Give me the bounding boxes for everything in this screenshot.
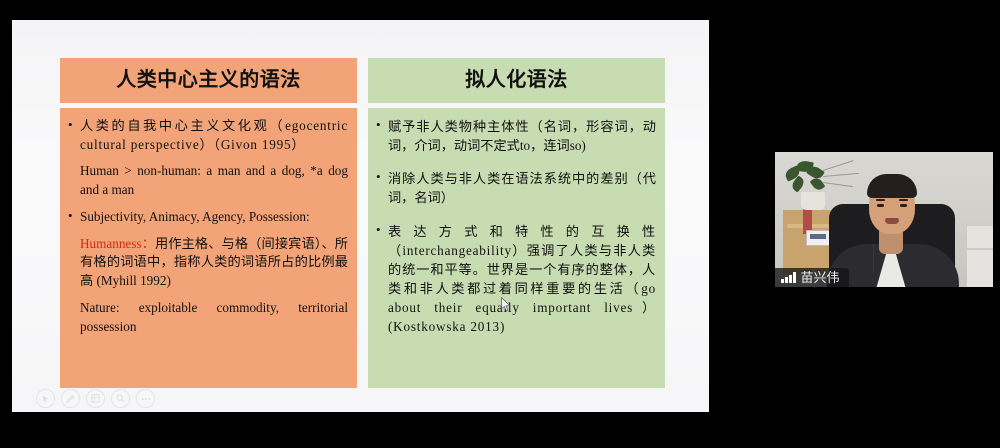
column-body-personified: 赋予非人类物种主体性（名词，形容词，动词，介词，动词不定式to，连词so) 消除… — [368, 108, 665, 388]
background-plant-pot — [801, 192, 825, 210]
meeting-screen-share-view: 人类中心主义的语法 人类的自我中心主义文化观（egocentric cultur… — [0, 0, 1000, 448]
plant-leaf — [810, 176, 826, 192]
person-hair — [867, 174, 917, 198]
person-eye — [900, 204, 907, 207]
column-personified-grammar: 拟人化语法 赋予非人类物种主体性（名词，形容词，动词，介词，动词不定式to，连词… — [368, 58, 665, 388]
bullet-subjectivity-animacy-agency-possession: Subjectivity, Animacy, Agency, Possessio… — [67, 208, 348, 227]
draw-tool-icon[interactable] — [61, 389, 80, 408]
slide-two-column-layout: 人类中心主义的语法 人类的自我中心主义文化观（egocentric cultur… — [60, 58, 665, 388]
participant-name-label: 苗兴伟 — [775, 268, 849, 287]
participant-video-tile[interactable]: 苗兴伟 — [775, 152, 993, 287]
video-scene: 苗兴伟 — [775, 152, 993, 287]
plant-branch — [823, 173, 859, 177]
column-anthropocentric-grammar: 人类中心主义的语法 人类的自我中心主义文化观（egocentric cultur… — [60, 58, 357, 388]
column-title-anthropocentric: 人类中心主义的语法 — [60, 58, 357, 103]
text-human-nonhuman-example: Human > non-human: a man and a dog, *a d… — [67, 162, 348, 199]
bullet-interchangeability: 表达方式和特性的互换性（interchangeability）强调了人类与非人类… — [375, 222, 656, 337]
person-mouth — [885, 218, 899, 224]
shared-slide: 人类中心主义的语法 人类的自我中心主义文化观（egocentric cultur… — [12, 20, 709, 412]
plant-branch — [823, 182, 853, 187]
bullet-subjectivity-nonhuman-species: 赋予非人类物种主体性（名词，形容词，动词，介词，动词不定式to，连词so) — [375, 117, 656, 155]
column-title-personified: 拟人化语法 — [368, 58, 665, 103]
background-shelf — [966, 226, 993, 287]
person-eyebrow — [876, 199, 885, 201]
humanness-label: Humanness： — [80, 236, 155, 251]
text-nature-exploitable-commodity: Nature: exploitable commodity, territori… — [67, 299, 348, 336]
column-body-anthropocentric: 人类的自我中心主义文化观（egocentric cultural perspec… — [60, 108, 357, 388]
bullet-eliminate-grammatical-difference: 消除人类与非人类在语法系统中的差别（代词，名词） — [375, 169, 656, 207]
shape-tool-icon[interactable] — [86, 389, 105, 408]
participant-name-text: 苗兴伟 — [801, 271, 840, 284]
person-eyebrow — [899, 199, 908, 201]
signal-bars-icon — [781, 272, 796, 283]
slide-canvas: 人类中心主义的语法 人类的自我中心主义文化观（egocentric cultur… — [12, 20, 709, 412]
plant-branch — [823, 160, 854, 171]
select-tool-icon[interactable] — [36, 389, 55, 408]
text-humanness-note: Humanness：用作主格、与格（间接宾语）、所有格的词语中，指称人类的词语所… — [67, 235, 348, 291]
more-tools-icon[interactable] — [136, 389, 155, 408]
annotation-toolbar[interactable] — [36, 389, 155, 408]
person-eye — [877, 204, 884, 207]
microphone-cord — [873, 244, 874, 272]
bullet-egocentric-cultural-perspective: 人类的自我中心主义文化观（egocentric cultural perspec… — [67, 117, 348, 154]
spotlight-tool-icon[interactable] — [111, 389, 130, 408]
